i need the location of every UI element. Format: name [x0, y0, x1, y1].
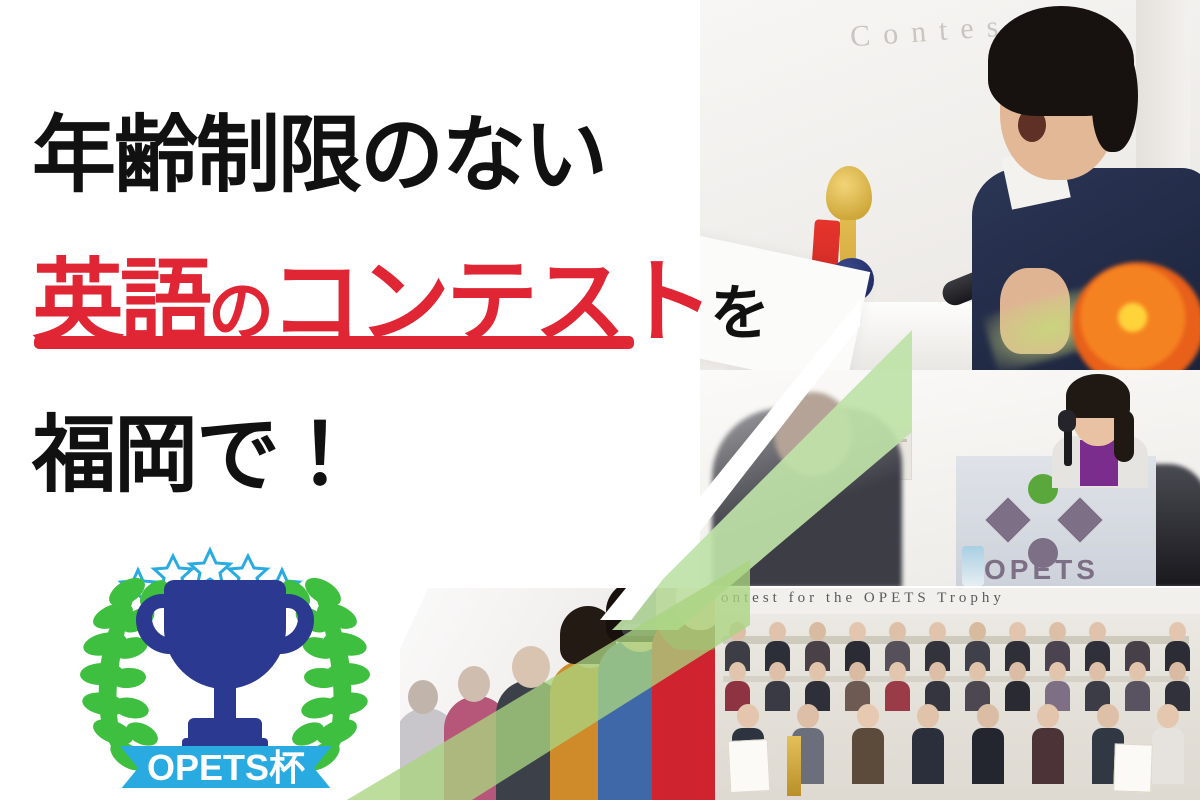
opets-trophy-logo: OPETS杯 [70, 518, 380, 788]
photo-group-certificate-right [1113, 743, 1153, 792]
photo-group-person [1019, 704, 1076, 784]
opets-logo-svg: OPETS杯 [70, 518, 380, 788]
photo-girl-microphone [1058, 410, 1076, 432]
photo-girl-water-bottle [962, 546, 984, 586]
photo-girl-at-opets-podium: OPETS [700, 370, 1200, 586]
photo-group-person [959, 704, 1016, 784]
photo-girl-judge-head [774, 392, 852, 476]
photo-speaker-at-podium: Contest [700, 0, 1200, 370]
photo-group-banner-text: ontest for the OPETS Trophy [721, 590, 1005, 607]
photo-audience-seated [400, 588, 715, 800]
photo-girl-podium-opets-text: OPETS [984, 554, 1099, 586]
photo-girl-logo-diamond-left [985, 497, 1030, 542]
photo-group-person [899, 704, 956, 784]
headline-line-2-wo: を [710, 279, 766, 349]
photo-group-certificate-left [728, 739, 771, 793]
photo-audience-head-mid-1 [512, 646, 550, 688]
photo-group-trophy [787, 736, 801, 796]
photo-girl-logo-diamond-right [1057, 497, 1102, 542]
headline-line-3: 福岡で！ [32, 388, 360, 509]
headline-line-1: 年齢制限のない [32, 88, 606, 209]
headline-block: 年齢制限のない 英語のコンテストを 福岡で！ [0, 0, 700, 520]
opets-promotional-banner: Contest OPETS [0, 0, 1200, 800]
photo-girl-braid [1114, 410, 1134, 462]
trophy-icon [136, 580, 314, 754]
photo-audience-head-far-1 [408, 680, 438, 714]
photo-audience-head-far-2 [458, 666, 490, 702]
photo-speaker-hair-side [1092, 40, 1138, 152]
photo-girl-purple-top [1080, 440, 1118, 486]
photo-group-photo: ontest for the OPETS Trophy [715, 588, 1200, 800]
ribbon-label: OPETS杯 [147, 747, 305, 788]
photo-group-person [839, 704, 896, 784]
red-brush-underline [34, 336, 634, 349]
